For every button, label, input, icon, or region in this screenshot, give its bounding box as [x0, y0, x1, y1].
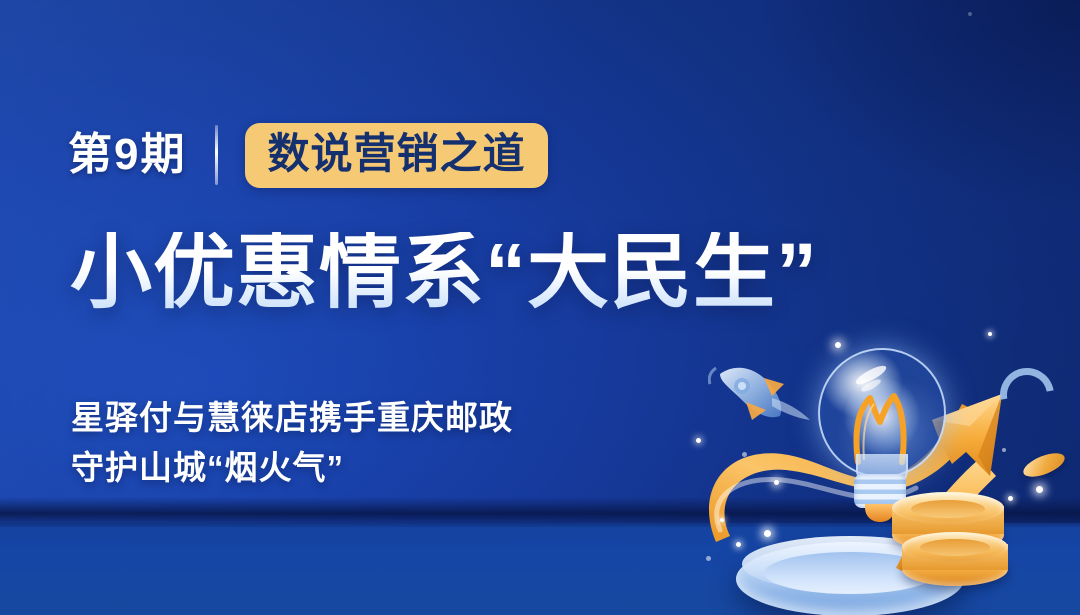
coin-inner-ring	[920, 539, 990, 556]
series-badge: 数说营销之道	[245, 123, 547, 188]
sparkle-icon	[1036, 486, 1043, 493]
header-row: 第9期 数说营销之道	[68, 118, 548, 192]
sparkle-icon	[1008, 496, 1013, 501]
illustration	[690, 330, 1080, 615]
sparkle-icon	[774, 480, 779, 485]
lightbulb-icon	[810, 348, 950, 498]
promo-poster: 第9期 数说营销之道 小优惠情系“大民生” 星驿付与慧徕店携手重庆邮政 守护山城…	[0, 0, 1080, 615]
sparkle-icon	[988, 332, 992, 336]
sparkle-icon	[764, 530, 771, 537]
page-title: 小优惠情系“大民生”	[70, 232, 818, 314]
header-divider	[215, 125, 218, 185]
issue-number: 第9期	[68, 133, 186, 177]
subtitle-block: 星驿付与慧徕店携手重庆邮政 守护山城“烟火气”	[71, 393, 513, 493]
subtitle-line-2: 守护山城“烟火气”	[71, 443, 513, 493]
subtitle-line-1: 星驿付与慧徕店携手重庆邮政	[71, 393, 513, 443]
coin-inner-ring	[911, 500, 985, 518]
sparkle-icon	[720, 518, 724, 522]
sparkle-icon	[736, 542, 741, 547]
sparkle-icon	[696, 438, 701, 443]
rocket-icon	[708, 358, 818, 438]
sparkle-icon	[835, 342, 841, 348]
sparkle-dot	[968, 12, 972, 16]
